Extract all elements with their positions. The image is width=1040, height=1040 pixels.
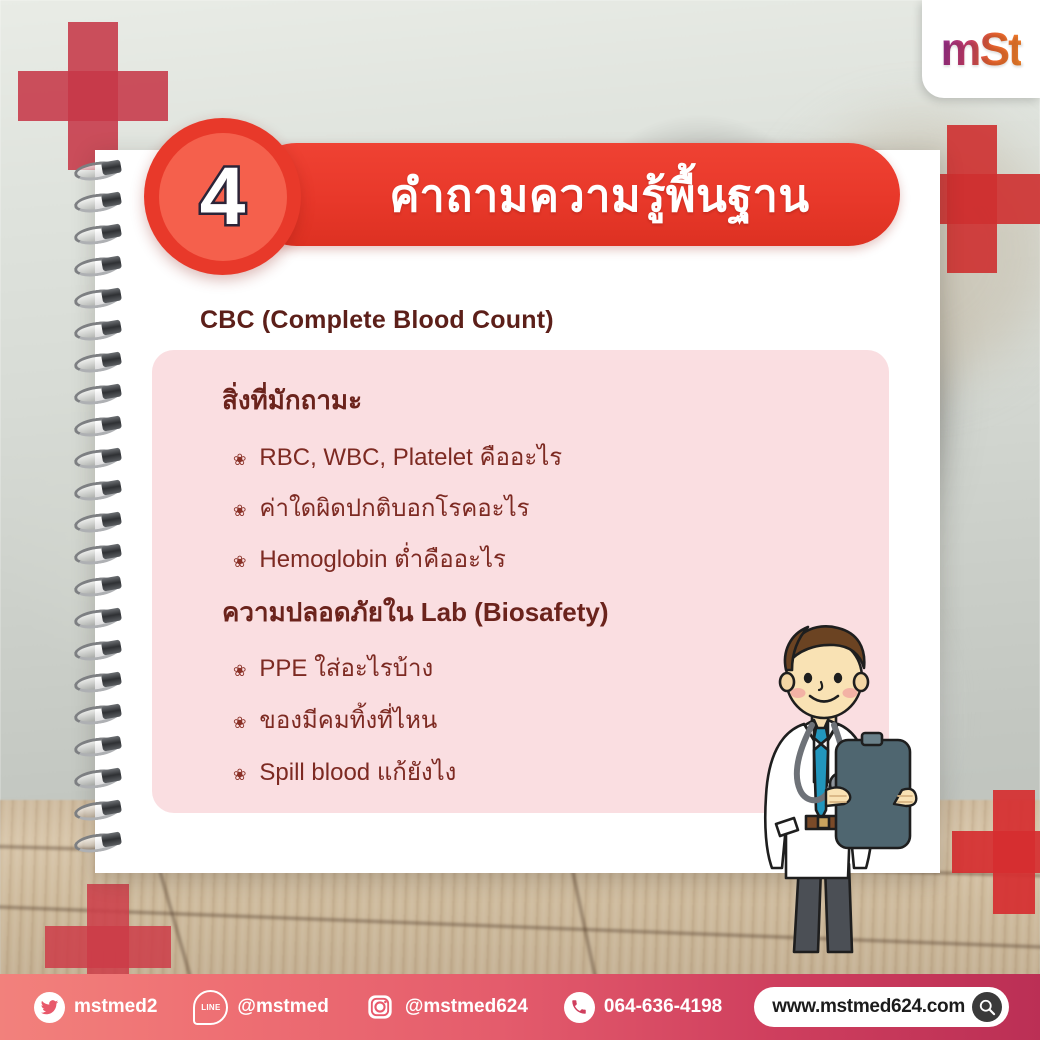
spiral-ring	[72, 640, 128, 657]
doctor-illustration	[742, 612, 928, 964]
flower-bullet-icon: ❀	[233, 716, 246, 732]
contact-twitter[interactable]: mstmed2	[34, 992, 157, 1023]
section-number-badge: 4	[144, 118, 301, 275]
section-title: คำถามความรู้พื้นฐาน	[245, 143, 900, 246]
spiral-ring	[72, 320, 128, 337]
list-item-label: ของมีคมทิ้งที่ไหน	[259, 700, 437, 739]
list-item: ❀ Hemoglobin ต่ำคืออะไร	[233, 539, 506, 578]
contact-twitter-label: mstmed2	[74, 996, 157, 1018]
spiral-ring	[72, 416, 128, 433]
spiral-ring	[72, 608, 128, 625]
brand-logo-text: mSt	[941, 26, 1022, 72]
spiral-ring	[72, 224, 128, 241]
contact-instagram-label: @mstmed624	[405, 996, 528, 1018]
line-icon-label: LINE	[201, 1003, 220, 1012]
brand-logo: mSt MED	[922, 0, 1040, 98]
list-item-label: RBC, WBC, Platelet คืออะไร	[259, 437, 562, 476]
subject-title: CBC (Complete Blood Count)	[200, 306, 554, 335]
spiral-ring	[72, 448, 128, 465]
spiral-ring	[72, 160, 128, 177]
spiral-ring	[72, 832, 128, 849]
contact-line[interactable]: LINE @mstmed	[193, 990, 328, 1025]
spiral-binding	[72, 160, 128, 866]
list-item: ❀ RBC, WBC, Platelet คืออะไร	[233, 437, 562, 476]
spiral-ring	[72, 704, 128, 721]
line-icon: LINE	[193, 990, 228, 1025]
contact-line-label: @mstmed	[237, 996, 328, 1018]
spiral-ring	[72, 800, 128, 817]
spiral-ring	[72, 576, 128, 593]
spiral-ring	[72, 736, 128, 753]
website-url: www.mstmed624.com	[772, 996, 965, 1018]
website-link[interactable]: www.mstmed624.com	[754, 987, 1009, 1027]
flower-bullet-icon: ❀	[233, 453, 246, 469]
flower-bullet-icon: ❀	[233, 664, 246, 680]
spiral-ring	[72, 256, 128, 273]
contact-phone-label: 064-636-4198	[604, 996, 722, 1018]
list-item: ❀ ของมีคมทิ้งที่ไหน	[233, 700, 437, 739]
twitter-icon	[34, 992, 65, 1023]
contact-phone[interactable]: 064-636-4198	[564, 992, 722, 1023]
contact-footer: mstmed2 LINE @mstmed @mstmed624	[0, 974, 1040, 1040]
red-cross-top-left	[18, 22, 168, 170]
red-cross-bottom-right	[952, 790, 1040, 914]
spiral-ring	[72, 192, 128, 209]
spiral-ring	[72, 672, 128, 689]
list-item: ❀ PPE ใส่อะไรบ้าง	[233, 648, 433, 687]
spiral-ring	[72, 544, 128, 561]
list-item-label: Spill blood แก้ยังไง	[259, 752, 456, 791]
contact-instagram[interactable]: @mstmed624	[365, 992, 528, 1023]
brand-logo-superscript: MED	[1017, 0, 1040, 1]
flower-bullet-icon: ❀	[233, 555, 246, 571]
list-item-label: Hemoglobin ต่ำคืออะไร	[259, 539, 506, 578]
list-item: ❀ ค่าใดผิดปกติบอกโรคอะไร	[233, 488, 530, 527]
section-number-badge-inner: 4	[159, 133, 287, 261]
section-number: 4	[200, 156, 246, 238]
poster-canvas: คำถามความรู้พื้นฐาน 4 CBC (Complete Bloo…	[0, 0, 1040, 1040]
list-item-label: ค่าใดผิดปกติบอกโรคอะไร	[259, 488, 529, 527]
spiral-ring	[72, 768, 128, 785]
spiral-ring	[72, 352, 128, 369]
phone-icon	[564, 992, 595, 1023]
section-heading-biosafety: ความปลอดภัยใน Lab (Biosafety)	[222, 592, 609, 633]
list-item: ❀ Spill blood แก้ยังไง	[233, 752, 456, 791]
spiral-ring	[72, 288, 128, 305]
flower-bullet-icon: ❀	[233, 504, 246, 520]
spiral-ring	[72, 384, 128, 401]
section-heading-common-questions: สิ่งที่มักถามะ	[222, 380, 362, 421]
flower-bullet-icon: ❀	[233, 768, 246, 784]
spiral-ring	[72, 480, 128, 497]
search-icon[interactable]	[972, 992, 1002, 1022]
instagram-icon	[365, 992, 396, 1023]
list-item-label: PPE ใส่อะไรบ้าง	[259, 648, 433, 687]
spiral-ring	[72, 512, 128, 529]
